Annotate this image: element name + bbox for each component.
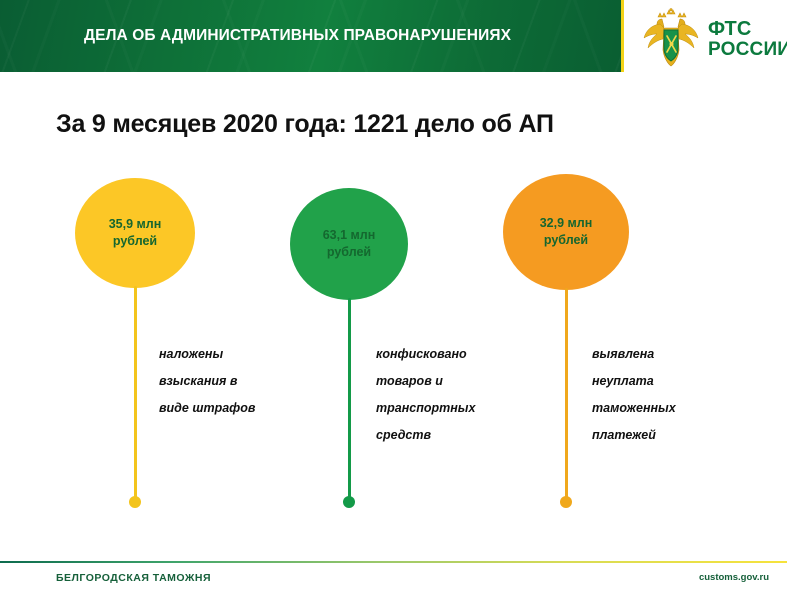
caption-3-line-3: таможенных	[592, 395, 676, 422]
footer-divider	[0, 561, 787, 563]
caption-3-line-2: неуплата	[592, 368, 676, 395]
fts-logo-line1: ФТС	[708, 19, 787, 39]
connector-stem-2	[348, 298, 351, 501]
value-bubble-2: 63,1 млн рублей	[290, 188, 408, 300]
page-title: ДЕЛА ОБ АДМИНИСТРАТИВНЫХ ПРАВОНАРУШЕНИЯХ	[84, 27, 511, 45]
bubble-unit-2: рублей	[327, 244, 371, 261]
caption-1-line-1: наложены	[159, 341, 255, 368]
slide-title: За 9 месяцев 2020 года: 1221 дело об АП	[56, 110, 554, 139]
caption-2: конфисковано товаров и транспортных сред…	[376, 341, 475, 449]
bubble-unit-1: рублей	[113, 233, 157, 250]
caption-3-line-4: платежей	[592, 422, 676, 449]
header-accent-stripe	[621, 0, 624, 72]
caption-3-line-1: выявлена	[592, 341, 676, 368]
footer-organization: БЕЛГОРОДСКАЯ ТАМОЖНЯ	[56, 572, 211, 584]
caption-2-line-2: товаров и	[376, 368, 475, 395]
connector-dot-1	[129, 496, 141, 508]
fts-logo-line2: РОССИИ	[708, 40, 787, 59]
caption-1: наложены взыскания в виде штрафов	[159, 341, 255, 422]
bubble-amount-3: 32,9 млн	[540, 215, 593, 232]
value-bubble-1: 35,9 млн рублей	[75, 178, 195, 288]
fts-logo: ФТС РОССИИ	[640, 6, 785, 72]
value-bubble-3: 32,9 млн рублей	[503, 174, 629, 290]
caption-2-line-4: средств	[376, 422, 475, 449]
caption-2-line-3: транспортных	[376, 395, 475, 422]
infographic-columns: 35,9 млн рублей наложены взыскания в вид…	[0, 178, 787, 518]
russian-double-headed-eagle-emblem-icon	[640, 8, 702, 70]
connector-stem-1	[134, 286, 137, 501]
caption-2-line-1: конфисковано	[376, 341, 475, 368]
bubble-amount-1: 35,9 млн	[109, 216, 162, 233]
connector-dot-2	[343, 496, 355, 508]
connector-dot-3	[560, 496, 572, 508]
bubble-unit-3: рублей	[544, 232, 588, 249]
caption-3: выявлена неуплата таможенных платежей	[592, 341, 676, 449]
caption-1-line-2: взыскания в	[159, 368, 255, 395]
footer-website: customs.gov.ru	[699, 572, 769, 583]
bubble-amount-2: 63,1 млн	[323, 227, 376, 244]
caption-1-line-3: виде штрафов	[159, 395, 255, 422]
connector-stem-3	[565, 288, 568, 501]
fts-logo-text: ФТС РОССИИ	[708, 19, 787, 59]
